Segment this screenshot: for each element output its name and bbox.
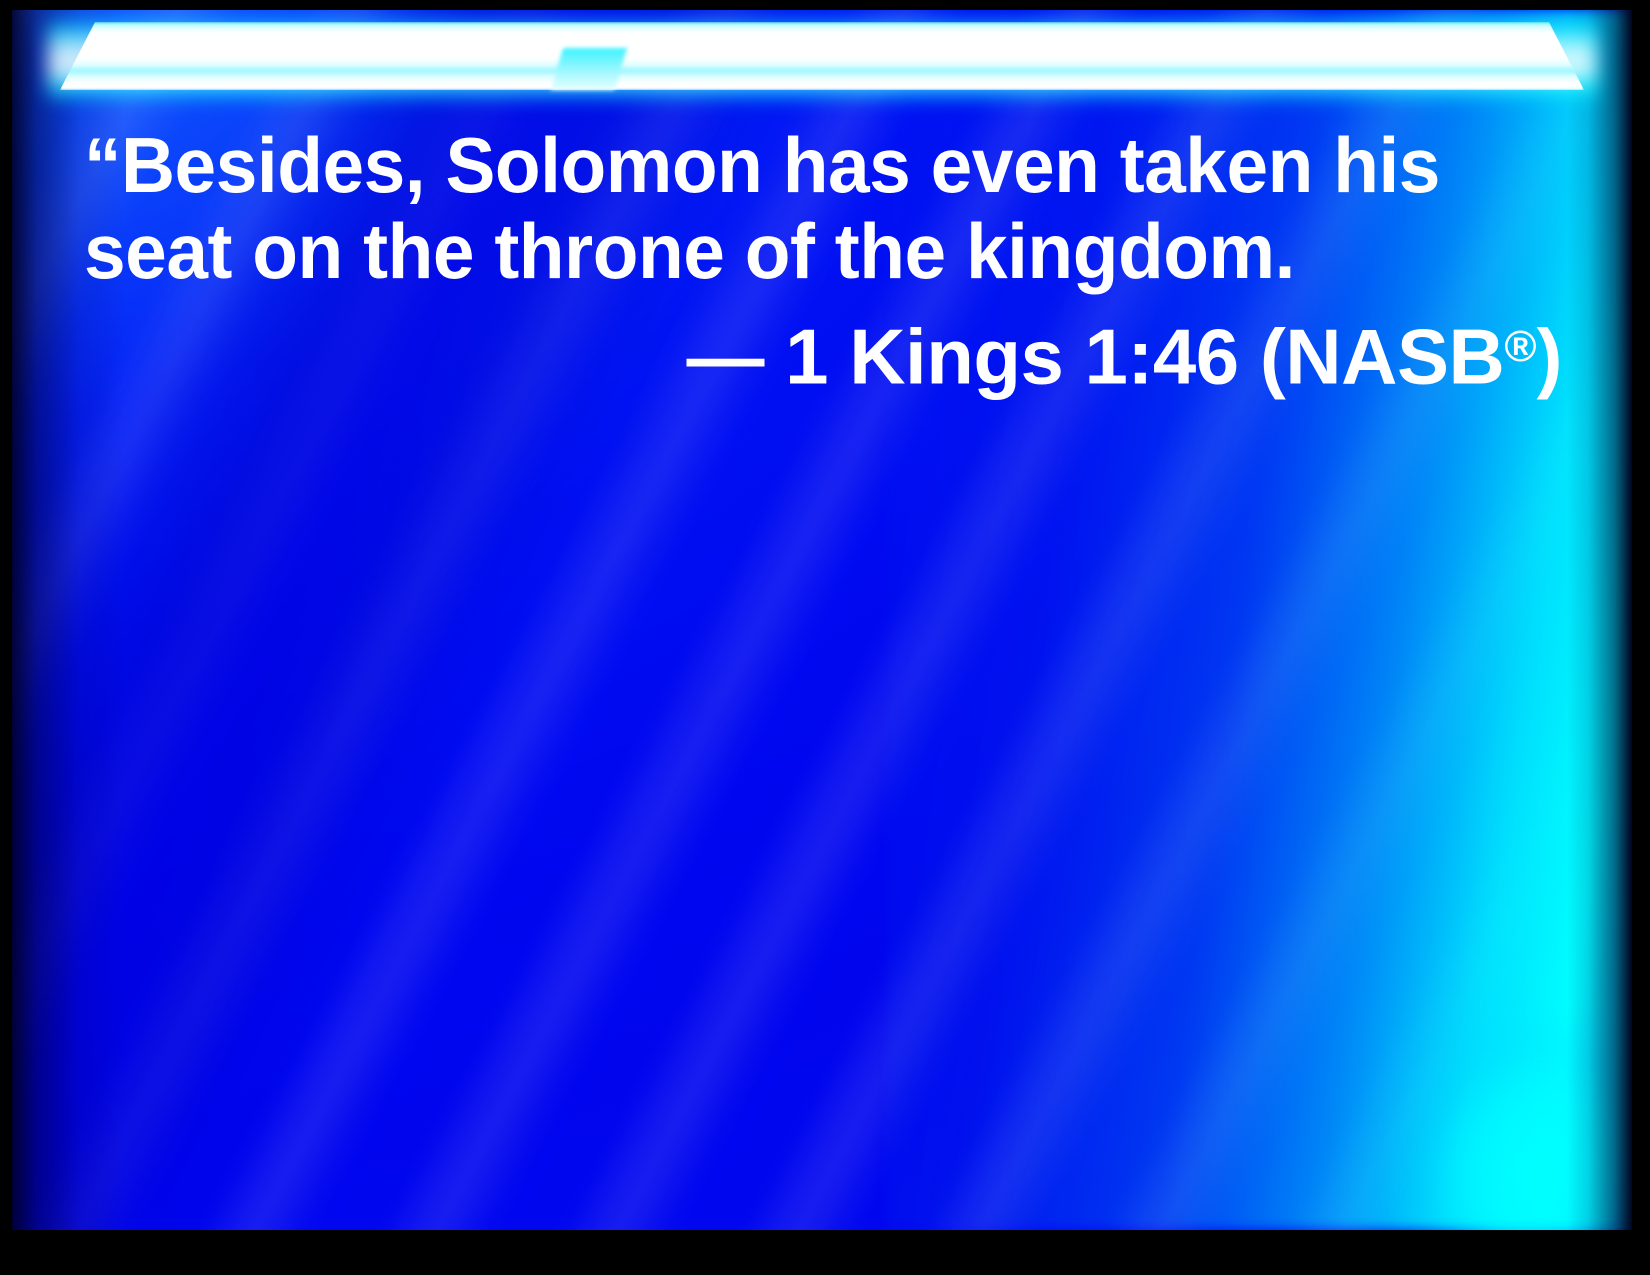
scripture-slide: “Besides, Solomon has even taken his sea… <box>0 0 1650 1275</box>
scripture-citation: — 1 Kings 1:46 (NASB®) <box>84 302 1564 402</box>
registered-trademark-icon: ® <box>1504 322 1536 371</box>
background-cyan-corner-glow <box>984 718 1632 1230</box>
citation-spacer <box>764 313 785 401</box>
citation-reference: 1 Kings 1:46 (NASB <box>785 313 1504 401</box>
quote-line-2: seat on the throne of the kingdom. <box>84 208 1505 294</box>
background-right-shade <box>1567 10 1632 1230</box>
quote-line-1: “Besides, Solomon has even taken his <box>84 122 1505 208</box>
scripture-text-block: “Besides, Solomon has even taken his sea… <box>84 122 1564 402</box>
citation-close-paren: ) <box>1537 313 1562 401</box>
citation-dash: — <box>686 313 764 401</box>
slide-canvas: “Besides, Solomon has even taken his sea… <box>12 10 1632 1230</box>
